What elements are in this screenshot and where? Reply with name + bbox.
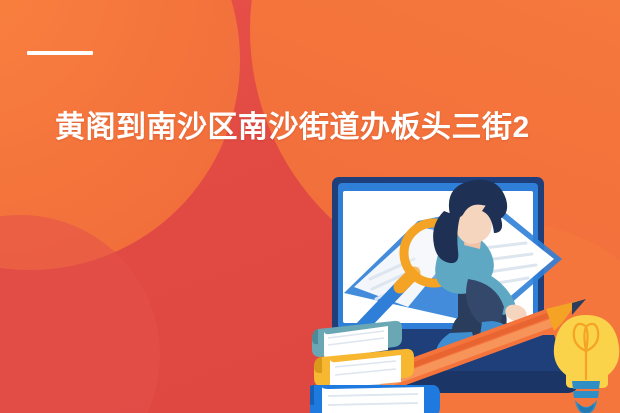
page-title: 黄阁到南沙区南沙街道办板头三街2 xyxy=(55,108,575,148)
study-search-illustration xyxy=(310,175,620,413)
banner: 黄阁到南沙区南沙街道办板头三街2 xyxy=(0,0,620,413)
divider-rule xyxy=(27,51,93,55)
lightbulb-icon xyxy=(554,315,619,413)
